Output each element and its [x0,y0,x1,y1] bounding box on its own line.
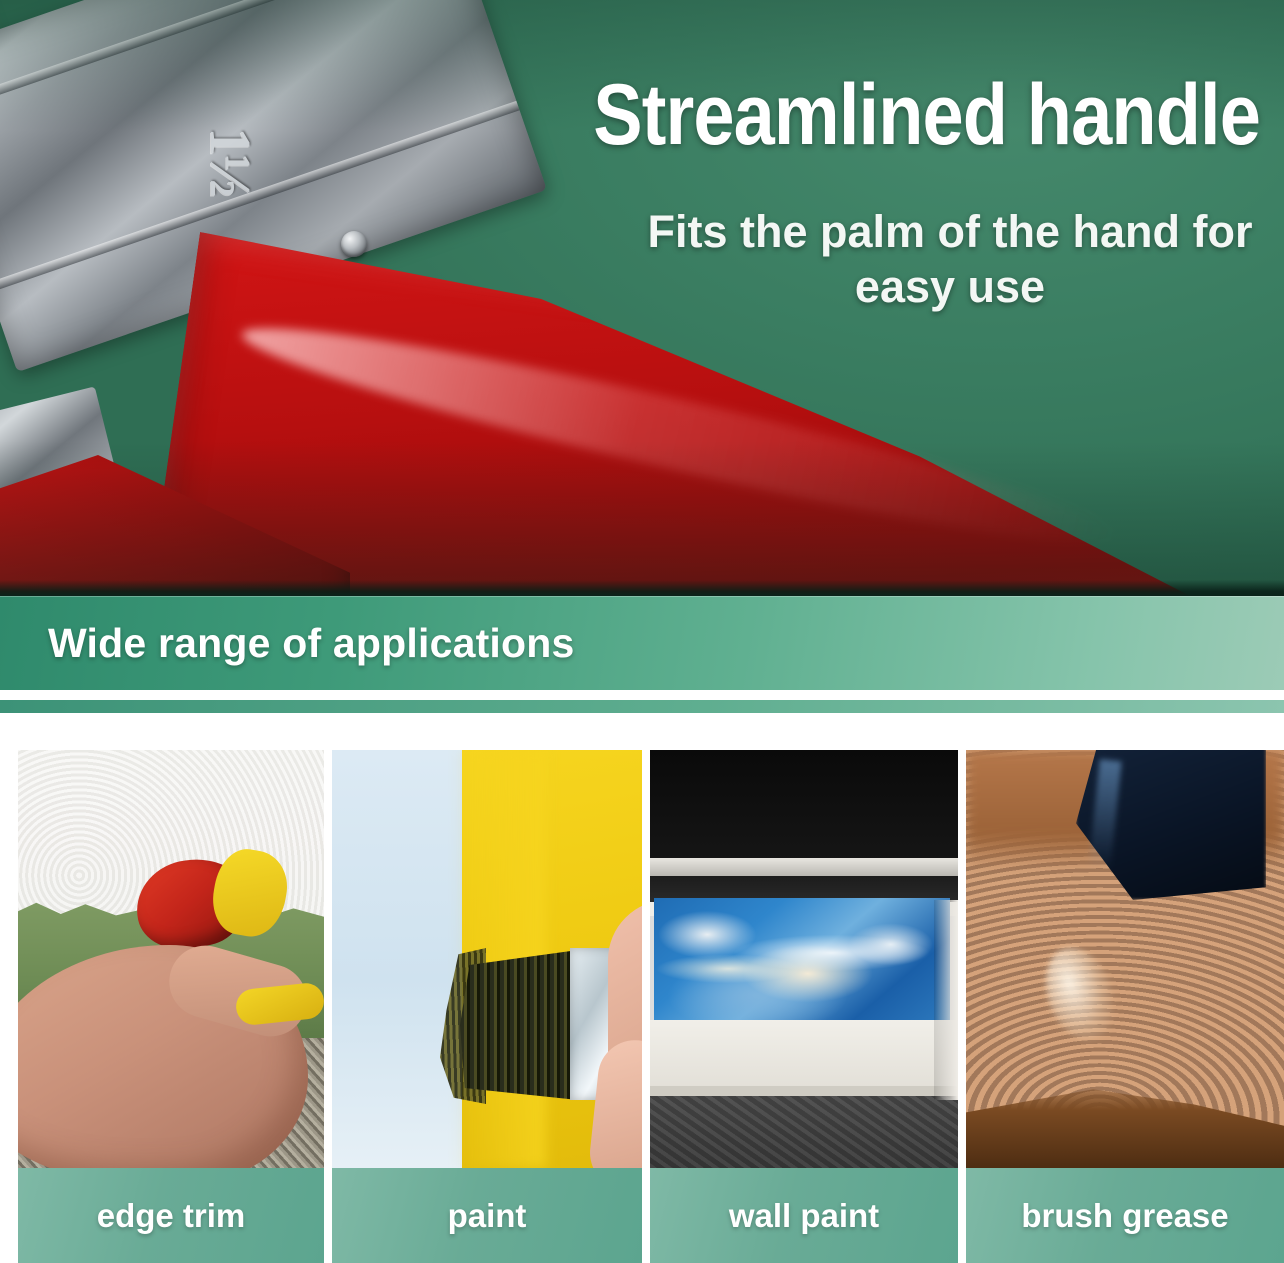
application-photo-edge-trim [18,750,324,1168]
caption-label: wall paint [729,1197,879,1235]
blue-cloud-mural [654,898,950,1020]
lower-wall [650,1020,958,1092]
brush-bristles [460,950,578,1100]
caption-label: brush grease [1021,1197,1228,1235]
caption-label: edge trim [97,1197,246,1235]
unpainted-wall [332,750,475,1168]
separator-white-lower [0,713,1284,750]
product-infographic: 1½ Streamlined handle Fits the palm of t… [0,0,1284,1263]
wall-corner [934,900,958,1100]
caption-label: paint [448,1197,527,1235]
baseboard [650,1086,958,1096]
separator-white-upper [0,690,1284,700]
application-card-brush-grease: brush grease [966,750,1284,1263]
application-caption-paint: paint [332,1168,642,1263]
mural-swirls [654,898,950,1020]
grey-floor [650,1096,958,1168]
page-title: Streamlined handle [434,72,1260,158]
hero-bottom-shade [0,580,1284,596]
ceiling-beam [650,858,958,876]
application-photo-paint [332,750,642,1168]
dark-ceiling [650,750,958,860]
application-caption-brush-grease: brush grease [966,1168,1284,1263]
application-card-wall-paint: wall paint [650,750,958,1263]
application-card-edge-trim: edge trim [18,750,324,1263]
application-caption-edge-trim: edge trim [18,1168,324,1263]
applications-grid: edge trim paint [0,750,1284,1263]
application-photo-wall-paint [650,750,958,1168]
hero-subtitle: Fits the palm of the hand for easy use [640,205,1260,315]
hero-section: 1½ Streamlined handle Fits the palm of t… [0,0,1284,596]
application-card-paint: paint [332,750,642,1263]
applications-banner-label: Wide range of applications [48,620,575,667]
separator-teal-stripe [0,700,1284,713]
application-caption-wall-paint: wall paint [650,1168,958,1263]
applications-banner: Wide range of applications [0,596,1284,690]
application-photo-brush-grease [966,750,1284,1168]
